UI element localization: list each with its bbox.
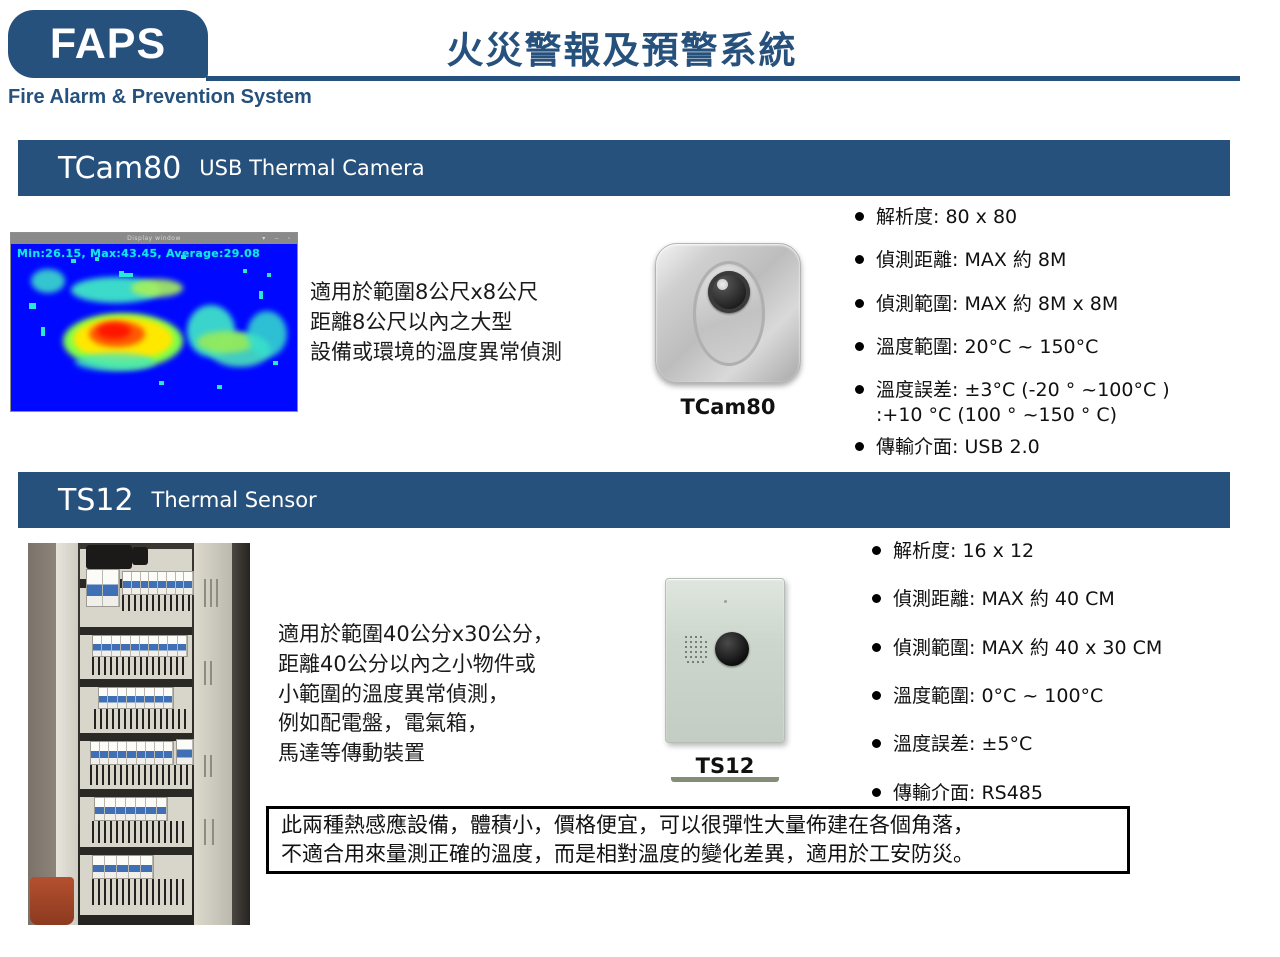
panel-vent bbox=[212, 819, 214, 845]
panel-rail bbox=[80, 679, 192, 687]
panel-vent bbox=[204, 661, 206, 685]
spec-text: 解析度: 80 x 80 bbox=[876, 205, 1017, 229]
spec-text: 溫度範圍: 20°C ~ 150°C bbox=[876, 335, 1098, 359]
spec-item: 偵測距離: MAX 約 40 CM bbox=[872, 587, 1252, 611]
section-model-tcam80: TCam80 bbox=[58, 151, 181, 186]
thermal-blob-peak bbox=[97, 323, 131, 339]
section-header-ts12: TS12 Thermal Sensor bbox=[18, 472, 1230, 528]
bullet-icon bbox=[872, 643, 881, 652]
bullet-icon bbox=[872, 546, 881, 555]
bullet-icon bbox=[855, 299, 864, 308]
header-divider bbox=[206, 76, 1240, 81]
bullet-icon bbox=[855, 442, 864, 451]
sensor-grid-icon bbox=[685, 636, 711, 664]
thermal-window-controls[interactable]: ▾ – ▫ bbox=[262, 235, 294, 242]
page-title: 火災警報及預警系統 bbox=[0, 20, 1244, 74]
spec-text: 溫度範圍: 0°C ~ 100°C bbox=[893, 684, 1103, 708]
floor-bucket bbox=[30, 877, 74, 925]
camera-lens-icon bbox=[708, 271, 750, 313]
panel-side-wall bbox=[194, 543, 234, 925]
spec-text: 傳輸介面: USB 2.0 bbox=[876, 435, 1040, 459]
panel-wiring bbox=[94, 709, 190, 729]
thermal-image-tcam80: Display window ▾ – ▫ Min:26.15, Max:43.4… bbox=[10, 232, 298, 412]
bullet-icon bbox=[855, 255, 864, 264]
bullet-icon bbox=[872, 594, 881, 603]
spec-item: 偵測範圍: MAX 約 8M x 8M bbox=[855, 292, 1235, 316]
summary-note-text: 此兩種熱感應設備，體積小，價格便宜，可以很彈性大量佈建在各個角落， 不適合用來量… bbox=[269, 811, 986, 869]
thermal-blob-cool-8 bbox=[75, 353, 155, 371]
panel-rail bbox=[80, 847, 192, 855]
description-tcam80: 適用於範圍8公尺x8公尺 距離8公尺以內之大型 設備或環境的溫度異常偵測 bbox=[310, 278, 630, 367]
panel-vent bbox=[204, 819, 206, 845]
spec-text: 解析度: 16 x 12 bbox=[893, 539, 1034, 563]
panel-vent bbox=[210, 755, 212, 777]
camera-lens-glint bbox=[717, 279, 728, 290]
thermal-noise-px bbox=[41, 327, 45, 336]
spec-item: 偵測距離: MAX 約 8M bbox=[855, 248, 1235, 272]
bullet-icon bbox=[855, 385, 864, 394]
sensor-pinhole bbox=[724, 600, 727, 603]
spec-item: 傳輸介面: USB 2.0 bbox=[855, 435, 1235, 459]
spec-item: 溫度範圍: 20°C ~ 150°C bbox=[855, 335, 1235, 359]
product-caption-tcam80: TCam80 bbox=[655, 395, 801, 419]
spec-item: 溫度誤差: ±3°C (-20 ° ~100°C ) :+10 °C (100 … bbox=[855, 378, 1235, 427]
panel-vent bbox=[210, 579, 212, 607]
thermal-window-titlebar: Display window ▾ – ▫ bbox=[11, 233, 297, 244]
panel-top-cable bbox=[86, 545, 132, 569]
spec-text: 偵測距離: MAX 約 40 CM bbox=[893, 587, 1115, 611]
panel-breaker-row bbox=[98, 687, 174, 709]
panel-vent bbox=[204, 579, 206, 607]
panel-breaker-row bbox=[92, 635, 188, 657]
spec-item: 溫度範圍: 0°C ~ 100°C bbox=[872, 684, 1252, 708]
panel-wiring bbox=[92, 821, 188, 843]
summary-note-box: 此兩種熱感應設備，體積小，價格便宜，可以很彈性大量佈建在各個角落， 不適合用來量… bbox=[266, 806, 1130, 874]
bullet-icon bbox=[855, 342, 864, 351]
spec-text: 偵測範圍: MAX 約 40 x 30 CM bbox=[893, 636, 1162, 660]
thermal-noise-px bbox=[119, 273, 133, 277]
panel-vent bbox=[204, 755, 206, 777]
panel-far-wall bbox=[232, 543, 250, 925]
panel-wiring bbox=[92, 657, 188, 675]
panel-rail bbox=[80, 627, 192, 635]
section-header-tcam80: TCam80 USB Thermal Camera bbox=[18, 140, 1230, 196]
spec-item: 解析度: 80 x 80 bbox=[855, 205, 1235, 229]
spec-list-tcam80: 解析度: 80 x 80 偵測距離: MAX 約 8M 偵測範圍: MAX 約 … bbox=[855, 205, 1235, 478]
spec-text: 偵測距離: MAX 約 8M bbox=[876, 248, 1066, 272]
panel-wiring bbox=[92, 879, 184, 905]
thermal-blob-cool-7 bbox=[247, 311, 287, 357]
panel-vent bbox=[210, 661, 212, 685]
panel-relay bbox=[176, 739, 194, 765]
electrical-panel-photo bbox=[28, 543, 250, 925]
panel-main-breaker bbox=[86, 569, 120, 607]
section-model-ts12: TS12 bbox=[58, 483, 134, 518]
section-descriptor-tcam80: USB Thermal Camera bbox=[199, 156, 424, 180]
thermal-noise-px bbox=[243, 269, 247, 273]
product-caption-ts12: TS12 bbox=[665, 754, 785, 778]
product-image-ts12: TS12 bbox=[665, 578, 785, 778]
thermal-noise-px bbox=[217, 385, 222, 389]
thermal-blob-cool-2 bbox=[131, 279, 183, 297]
thermal-stats-overlay: Min:26.15, Max:43.45, Average:29.08 bbox=[17, 247, 260, 260]
spec-text: 溫度誤差: ±3°C (-20 ° ~100°C ) :+10 °C (100 … bbox=[876, 378, 1170, 427]
panel-breaker-row bbox=[90, 741, 174, 765]
thermal-noise-px bbox=[159, 381, 164, 385]
panel-wiring bbox=[122, 595, 194, 611]
thermal-noise-px bbox=[267, 273, 271, 277]
sensor-dome-icon bbox=[715, 632, 749, 666]
panel-breaker-row bbox=[122, 571, 194, 595]
bullet-icon bbox=[872, 739, 881, 748]
thermal-blob-cool-6 bbox=[31, 269, 65, 293]
panel-door bbox=[56, 543, 78, 925]
spec-item: 溫度誤差: ±5°C bbox=[872, 732, 1252, 756]
spec-item: 傳輸介面: RS485 bbox=[872, 781, 1252, 805]
product-image-tcam80: TCam80 bbox=[655, 243, 801, 423]
spec-text: 偵測範圍: MAX 約 8M x 8M bbox=[876, 292, 1118, 316]
panel-wiring bbox=[90, 765, 190, 785]
panel-breaker-row bbox=[94, 797, 168, 821]
spec-list-ts12: 解析度: 16 x 12 偵測距離: MAX 約 40 CM 偵測範圍: MAX… bbox=[872, 539, 1252, 824]
slide-page: FAPS Fire Alarm & Prevention System 火災警報… bbox=[0, 0, 1280, 957]
thermal-window-title: Display window bbox=[127, 235, 181, 242]
bullet-icon bbox=[872, 788, 881, 797]
panel-vent bbox=[216, 579, 218, 607]
bullet-icon bbox=[872, 691, 881, 700]
spec-item: 解析度: 16 x 12 bbox=[872, 539, 1252, 563]
logo-subtitle: Fire Alarm & Prevention System bbox=[8, 86, 312, 109]
section-descriptor-ts12: Thermal Sensor bbox=[152, 488, 317, 512]
thermal-noise-px bbox=[273, 361, 278, 365]
panel-top-cable bbox=[132, 547, 148, 565]
description-ts12: 適用於範圍40公分x30公分， 距離40公分以內之小物件或 小範圍的溫度異常偵測… bbox=[278, 620, 638, 769]
spec-item: 偵測範圍: MAX 約 40 x 30 CM bbox=[872, 636, 1252, 660]
thermal-noise-px bbox=[259, 291, 263, 299]
spec-text: 溫度誤差: ±5°C bbox=[893, 732, 1032, 756]
spec-text: 傳輸介面: RS485 bbox=[893, 781, 1043, 805]
thermal-noise-px bbox=[29, 303, 36, 309]
bullet-icon bbox=[855, 212, 864, 221]
panel-rail bbox=[80, 789, 192, 797]
panel-breaker-row bbox=[92, 855, 154, 879]
